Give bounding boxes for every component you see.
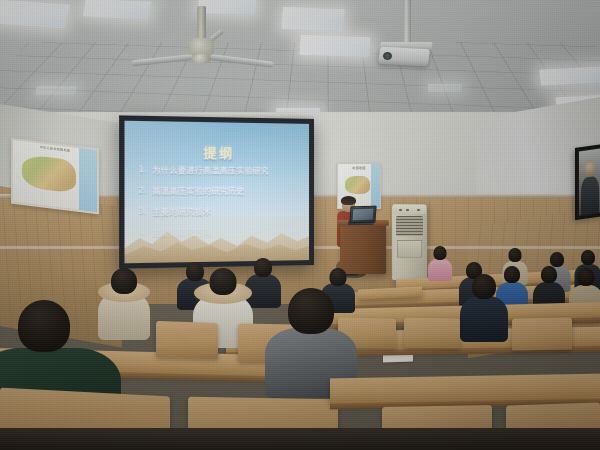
- air-conditioner[interactable]: [392, 204, 427, 280]
- student-head: [210, 268, 237, 295]
- student-head: [550, 252, 564, 267]
- slide-title: 提纲: [125, 142, 310, 163]
- presenter-hair: [341, 196, 356, 205]
- map-sea-area: [79, 148, 97, 212]
- slide-list-item: 3. 主要的研究技术: [139, 206, 302, 218]
- portrait-head: [584, 159, 595, 177]
- ceiling: [0, 0, 600, 118]
- student-grey-foreground: [272, 288, 350, 392]
- student-jacket: [460, 296, 508, 342]
- china-map-poster-left: 中华人民共和国地图: [11, 138, 99, 215]
- student-head: [330, 268, 347, 286]
- map-title-right: 中国地图: [338, 166, 380, 170]
- slide-list-item: 4. 主要的研究方向: [139, 226, 302, 239]
- podium: [340, 224, 386, 274]
- map-landmass: [22, 154, 76, 194]
- slide-item-number: 2.: [139, 186, 147, 197]
- map-sea-area: [371, 164, 380, 208]
- fan-rod: [197, 6, 206, 40]
- student-head: [472, 274, 496, 299]
- framed-portrait: [575, 144, 600, 220]
- slide-outline-list: 1. 为什么要进行高温高压实验研究 2. 高温高压实验的研究历史 3. 主要的研…: [139, 165, 302, 249]
- slide-item-text: 高温高压实验的研究历史: [152, 186, 244, 197]
- student-head: [434, 246, 447, 260]
- ac-indicator-led: [406, 209, 409, 211]
- classroom-photo: 中华人民共和国地图 中国地图: [0, 0, 600, 450]
- ceiling-light-panel: [428, 84, 463, 92]
- ac-vent-grille: [396, 216, 423, 236]
- slide-item-number: 4.: [139, 227, 147, 239]
- bench-seat-back: [156, 321, 218, 359]
- student-head: [504, 266, 520, 283]
- slide-item-number: 3.: [139, 207, 147, 219]
- student-head: [288, 288, 334, 334]
- ac-front-panel: [397, 240, 422, 258]
- student-head: [18, 300, 70, 352]
- ceiling-light-panel: [281, 7, 345, 31]
- slide-list-item: 2. 高温高压实验的研究历史: [139, 186, 302, 197]
- student-head: [111, 268, 137, 294]
- bench-seat-back: [512, 317, 572, 350]
- student-head: [541, 266, 557, 283]
- projection-screen[interactable]: 提纲 1. 为什么要进行高温高压实验研究 2. 高温高压实验的研究历史 3. 主…: [119, 115, 314, 268]
- laptop-screen[interactable]: [349, 206, 376, 224]
- student-head: [578, 268, 595, 286]
- projector-lens: [383, 52, 392, 60]
- slide-item-text: 主要的研究技术: [152, 206, 211, 218]
- ceiling-light-panel: [539, 66, 600, 85]
- ceiling-light-panel: [299, 35, 370, 57]
- desk-row-foreground: [330, 374, 600, 405]
- ac-top-panel: [393, 205, 426, 214]
- ac-indicator-led: [417, 209, 420, 211]
- slide-surface: 提纲 1. 为什么要进行高温高压实验研究 2. 高温高压实验的研究历史 3. 主…: [125, 121, 310, 264]
- laptop-display: [353, 209, 374, 221]
- student-head: [581, 250, 595, 265]
- student-head: [509, 248, 522, 262]
- ceiling-light-panel: [83, 0, 152, 20]
- student-pink-jacket: [428, 246, 452, 280]
- projector-mount-pole: [403, 0, 411, 44]
- bench-seat-back: [404, 318, 460, 349]
- fan-hub: [192, 54, 211, 64]
- ceiling-light-panel: [35, 86, 76, 95]
- floor: [0, 428, 600, 450]
- portrait-canvas: [579, 149, 600, 216]
- slide-item-text: 主要的研究方向: [152, 227, 211, 239]
- slide-item-number: 1.: [139, 165, 147, 177]
- ac-indicator-led: [399, 209, 402, 211]
- ceiling-light-panel: [0, 0, 70, 29]
- student-jacket: [428, 259, 452, 281]
- slide-list-item: 1. 为什么要进行高温高压实验研究: [139, 165, 302, 177]
- slide-item-text: 为什么要进行高温高压实验研究: [152, 165, 269, 177]
- ceiling-light-panel: [197, 0, 257, 15]
- map-landmass: [345, 176, 370, 194]
- portrait-body: [580, 176, 598, 216]
- student-navy-front-right: [462, 274, 506, 338]
- student-head: [254, 258, 272, 277]
